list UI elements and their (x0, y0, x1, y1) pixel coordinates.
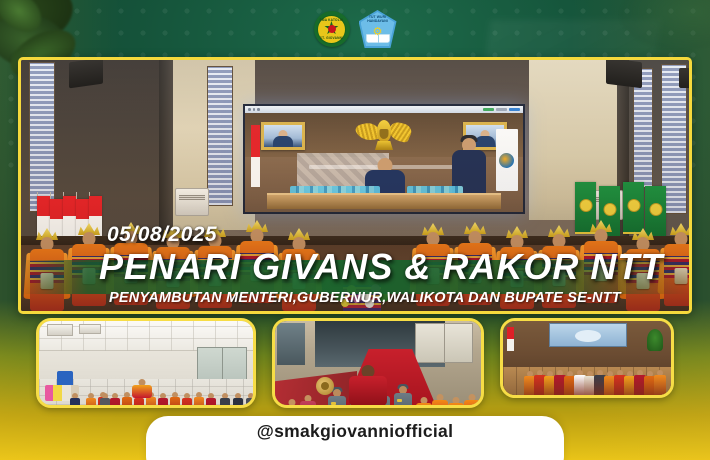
led-screen (243, 104, 525, 214)
page-title: PENARI GIVANS & RAKOR NTT (99, 246, 663, 288)
woven-tapestry-left (29, 62, 55, 212)
foreground-dancer (345, 365, 391, 405)
woven-tapestry-center-left (207, 66, 233, 206)
garuda-emblem-icon (357, 119, 411, 149)
air-conditioner-left (175, 188, 209, 216)
screen-organization-flag (496, 129, 518, 191)
flame-icon: ⚙ (373, 27, 383, 37)
social-handle: @smakgiovanniofficial (257, 421, 453, 442)
star-center-dot (328, 25, 336, 33)
thumb-red-carpet-welcome (272, 318, 484, 408)
potted-plant (647, 329, 663, 351)
school-emblem-arc-bottom: ST. GIOVANNI (318, 36, 345, 40)
school-emblem-logo: SMA KATOLIK ★ ST. GIOVANNI (314, 11, 350, 47)
tut-wuri-handayani-logo: TUT WURI HANDAYANI ⚙ (359, 10, 397, 48)
thumb1-ac-unit-1 (47, 324, 73, 336)
framed-portrait-left (261, 122, 305, 150)
indonesian-flag (50, 199, 63, 239)
thumb3-indonesian-flag (507, 327, 514, 351)
main-photo: 05/08/2025 PENARI GIVANS & RAKOR NTT PEN… (21, 60, 689, 311)
indonesian-flag (63, 196, 76, 236)
ceiling-speaker-right (606, 60, 642, 88)
green-flag (623, 182, 644, 234)
event-date: 05/08/2025 (107, 223, 217, 247)
thumb-stage-group (500, 318, 674, 398)
green-flag (645, 186, 666, 238)
stage-screen (549, 323, 627, 347)
poster-canvas: SMA KATOLIK ★ ST. GIOVANNI TUT WURI HAND… (0, 0, 710, 460)
tut-wuri-caption: TUT WURI HANDAYANI (359, 15, 397, 23)
ceiling-speaker-far-right (679, 68, 689, 88)
social-handle-bar: @smakgiovanniofficial (146, 416, 564, 460)
main-photo-frame: 05/08/2025 PENARI GIVANS & RAKOR NTT PEN… (18, 57, 692, 314)
logo-row: SMA KATOLIK ★ ST. GIOVANNI TUT WURI HAND… (0, 9, 710, 49)
thumb-dancers-hall (36, 318, 256, 408)
ceiling-speaker-left (69, 60, 103, 88)
thumb1-ac-unit-2 (79, 324, 101, 334)
kneeling-dancer (131, 379, 153, 397)
thumbnail-row (0, 318, 710, 418)
page-subtitle: PENYAMBUTAN MENTERI,GUBERNUR,WALIKOTA DA… (109, 290, 621, 306)
screen-indonesian-flag (251, 125, 260, 187)
